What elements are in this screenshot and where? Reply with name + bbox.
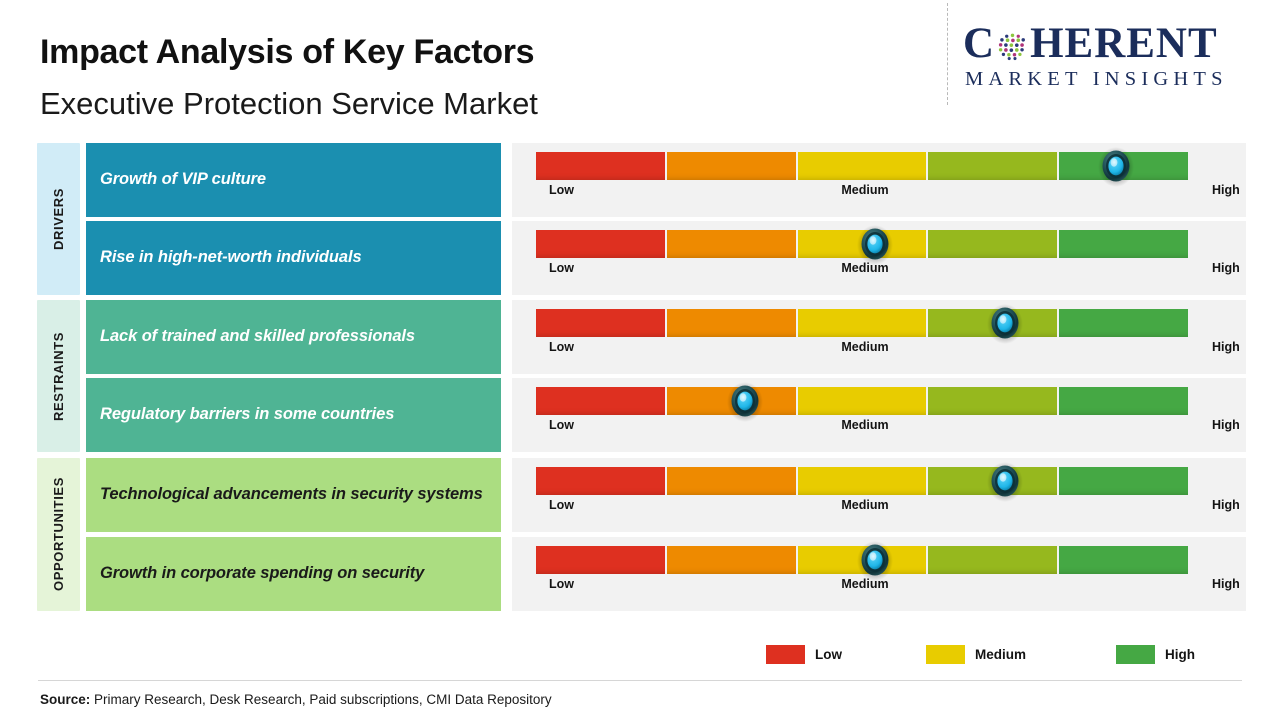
category-label-text: RESTRAINTS [37, 300, 80, 452]
factor-label: Growth of VIP culture [100, 169, 266, 190]
gauge-segment-1 [536, 387, 665, 415]
source-text: Primary Research, Desk Research, Paid su… [90, 692, 551, 707]
gauge-label-medium: Medium [841, 340, 888, 354]
gauge-scale-labels: LowMediumHigh [536, 340, 1236, 358]
factor-label: Technological advancements in security s… [100, 484, 483, 505]
gauge-scale-labels: LowMediumHigh [536, 498, 1236, 516]
gauge-label-high: High [1212, 418, 1240, 432]
legend-label-high: High [1165, 647, 1195, 662]
gauge-segment-1 [536, 309, 665, 337]
gauge-segment-1 [536, 467, 665, 495]
factor-box[interactable]: Rise in high-net-worth individuals [86, 221, 501, 295]
gauge-segment-5 [1059, 546, 1188, 574]
gauge-label-medium: Medium [841, 498, 888, 512]
gauge-segment-4 [928, 467, 1057, 495]
gauge-segment-1 [536, 230, 665, 258]
gauge-label-low: Low [549, 418, 574, 432]
legend-label-low: Low [815, 647, 842, 662]
category-label-text: DRIVERS [37, 143, 80, 295]
gauge-label-medium: Medium [841, 418, 888, 432]
page-title: Impact Analysis of Key Factors [40, 33, 534, 72]
gauge-track [536, 546, 1188, 574]
gauge-row: LowMediumHigh [512, 537, 1246, 611]
gauge-segment-3 [798, 546, 927, 574]
gauge-scale-labels: LowMediumHigh [536, 577, 1236, 595]
gauge-segment-2 [667, 309, 796, 337]
gauge-track [536, 230, 1188, 258]
gauge-track [536, 152, 1188, 180]
gauge-segment-5 [1059, 230, 1188, 258]
gauge-segment-3 [798, 152, 927, 180]
gauge-row: LowMediumHigh [512, 378, 1246, 452]
gauge-row: LowMediumHigh [512, 300, 1246, 374]
gauge-row: LowMediumHigh [512, 221, 1246, 295]
gauge-segment-1 [536, 546, 665, 574]
factor-box[interactable]: Regulatory barriers in some countries [86, 378, 501, 452]
logo-tagline: MARKET INSIGHTS [963, 68, 1263, 91]
gauge-segment-3 [798, 309, 927, 337]
legend-item-low: Low [766, 645, 842, 664]
logo-wordmark: C [963, 22, 1263, 66]
gauge-label-low: Low [549, 261, 574, 275]
gauge-label-low: Low [549, 340, 574, 354]
gauge-label-low: Low [549, 577, 574, 591]
gauge-segment-5 [1059, 467, 1188, 495]
gauge-segment-4 [928, 230, 1057, 258]
gauge-label-high: High [1212, 183, 1240, 197]
legend-swatch-medium [926, 645, 965, 664]
gauge-label-medium: Medium [841, 577, 888, 591]
gauge-segment-4 [928, 309, 1057, 337]
gauge-label-medium: Medium [841, 183, 888, 197]
factor-label: Regulatory barriers in some countries [100, 404, 394, 425]
legend-swatch-low [766, 645, 805, 664]
gauge-segment-5 [1059, 152, 1188, 180]
gauge-segment-1 [536, 152, 665, 180]
logo-letter-c: C [963, 22, 995, 66]
gauge-label-high: High [1212, 498, 1240, 512]
factor-label: Rise in high-net-worth individuals [100, 247, 362, 268]
gauge-label-high: High [1212, 261, 1240, 275]
gauge-track [536, 387, 1188, 415]
source-label: Source: [40, 692, 90, 707]
gauge-segment-2 [667, 152, 796, 180]
gauge-scale-labels: LowMediumHigh [536, 418, 1236, 436]
gauge-label-low: Low [549, 498, 574, 512]
legend: Low Medium High [766, 645, 1186, 669]
gauge-segment-5 [1059, 309, 1188, 337]
category-label-restraints: RESTRAINTS [37, 300, 80, 452]
source-note: Source: Primary Research, Desk Research,… [40, 692, 552, 707]
gauge-segment-3 [798, 230, 927, 258]
category-label-drivers: DRIVERS [37, 143, 80, 295]
gauge-segment-2 [667, 230, 796, 258]
gauge-label-high: High [1212, 577, 1240, 591]
factor-label: Lack of trained and skilled professional… [100, 326, 415, 347]
gauge-scale-labels: LowMediumHigh [536, 183, 1236, 201]
gauge-label-medium: Medium [841, 261, 888, 275]
gauge-segment-4 [928, 387, 1057, 415]
gauge-segment-3 [798, 387, 927, 415]
page-subtitle: Executive Protection Service Market [40, 86, 538, 122]
factor-box[interactable]: Lack of trained and skilled professional… [86, 300, 501, 374]
gauge-label-low: Low [549, 183, 574, 197]
gauge-segment-2 [667, 546, 796, 574]
legend-item-medium: Medium [926, 645, 1026, 664]
logo-divider [947, 3, 948, 105]
footer-divider [38, 680, 1242, 681]
factor-box[interactable]: Growth of VIP culture [86, 143, 501, 217]
gauge-segment-4 [928, 546, 1057, 574]
category-label-text: OPPORTUNITIES [37, 458, 80, 611]
legend-label-medium: Medium [975, 647, 1026, 662]
gauge-track [536, 467, 1188, 495]
gauge-row: LowMediumHigh [512, 458, 1246, 532]
page-header: Impact Analysis of Key Factors Executive… [0, 0, 1280, 132]
gauge-row: LowMediumHigh [512, 143, 1246, 217]
coherent-market-insights-logo: C [963, 22, 1263, 96]
logo-word-herent: HERENT [1030, 22, 1218, 66]
gauge-scale-labels: LowMediumHigh [536, 261, 1236, 279]
gauge-label-high: High [1212, 340, 1240, 354]
gauge-track [536, 309, 1188, 337]
category-label-opportunities: OPPORTUNITIES [37, 458, 80, 611]
legend-swatch-high [1116, 645, 1155, 664]
dotted-globe-icon [996, 30, 1029, 63]
gauge-segment-2 [667, 467, 796, 495]
factor-box[interactable]: Growth in corporate spending on security [86, 537, 501, 611]
factor-label: Growth in corporate spending on security [100, 563, 424, 584]
gauge-segment-5 [1059, 387, 1188, 415]
gauge-segment-3 [798, 467, 927, 495]
gauge-segment-2 [667, 387, 796, 415]
legend-item-high: High [1116, 645, 1195, 664]
gauge-segment-4 [928, 152, 1057, 180]
factor-box[interactable]: Technological advancements in security s… [86, 458, 501, 532]
